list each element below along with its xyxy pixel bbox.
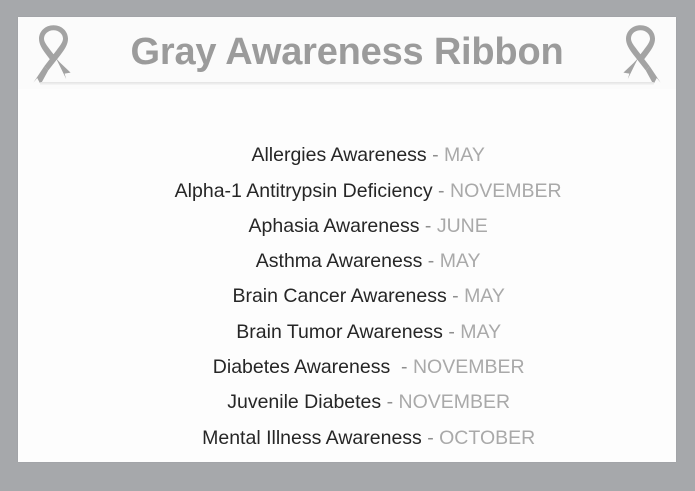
awareness-list: Allergies Awareness - MAY Alpha-1 Antitr… xyxy=(18,103,676,421)
condition-label: Alpha-1 Antitrypsin Deficiency xyxy=(175,180,433,202)
month-label: OCTOBER xyxy=(439,427,535,449)
condition-label: Mental Illness Awareness xyxy=(202,427,422,449)
month-label: MAY xyxy=(444,144,485,166)
poster-header: Gray Awareness Ribbon xyxy=(18,17,676,89)
separator: - xyxy=(381,391,398,413)
separator: - xyxy=(427,144,444,166)
separator: - xyxy=(433,180,450,202)
month-label: NOVEMBER xyxy=(413,356,525,378)
month-label: MAY xyxy=(464,285,505,307)
list-item: Allergies Awareness - MAY xyxy=(18,103,676,138)
month-label: NOVEMBER xyxy=(399,391,511,413)
condition-label: Brain Cancer Awareness xyxy=(232,285,446,307)
condition-label: Aphasia Awareness xyxy=(249,215,420,237)
month-label: MAY xyxy=(440,250,481,272)
separator: - xyxy=(443,321,460,343)
condition-label: Brain Tumor Awareness xyxy=(236,321,443,343)
condition-label: Diabetes Awareness xyxy=(213,356,390,378)
month-label: JUNE xyxy=(437,215,488,237)
month-label: NOVEMBER xyxy=(450,180,562,202)
condition-label: Asthma Awareness xyxy=(256,250,423,272)
month-label: MAY xyxy=(460,321,501,343)
poster-frame: Gray Awareness Ribbon Allergies Awarenes… xyxy=(0,0,695,476)
condition-label: Allergies Awareness xyxy=(251,144,426,166)
separator: - xyxy=(390,356,413,378)
condition-label: Juvenile Diabetes xyxy=(227,391,381,413)
separator: - xyxy=(419,215,436,237)
poster-card: Gray Awareness Ribbon Allergies Awarenes… xyxy=(18,17,676,462)
separator: - xyxy=(422,250,439,272)
header-divider xyxy=(40,82,654,85)
separator: - xyxy=(422,427,439,449)
awareness-ribbon-icon-right xyxy=(610,22,668,88)
page-title: Gray Awareness Ribbon xyxy=(18,23,676,81)
separator: - xyxy=(447,285,464,307)
